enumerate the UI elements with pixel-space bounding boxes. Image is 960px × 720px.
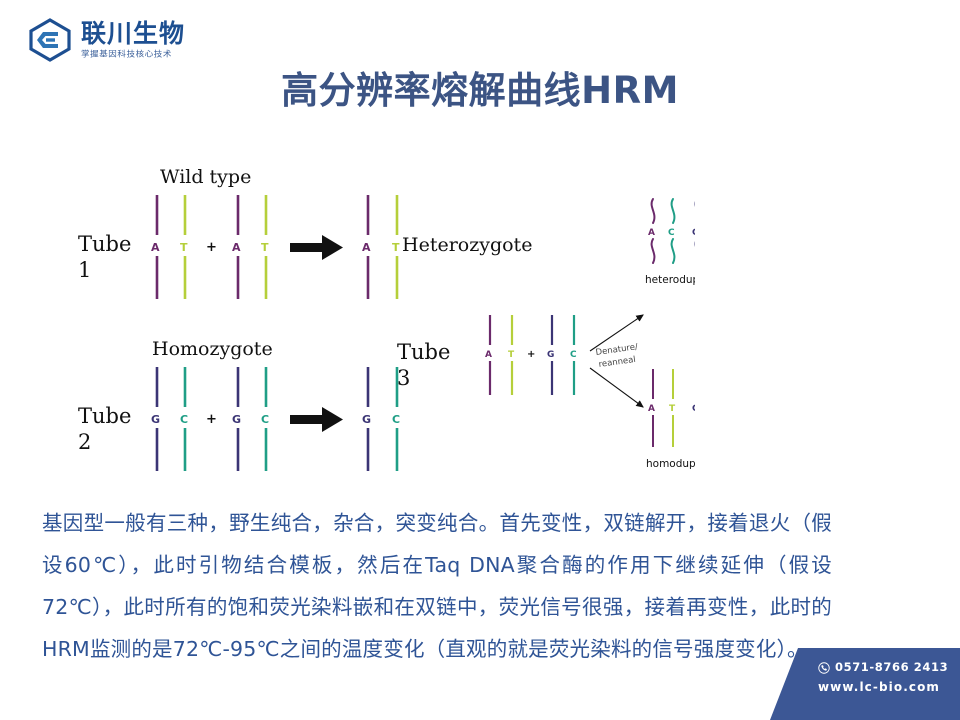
- footer-phone-number: 0571-8766 2413: [835, 661, 948, 675]
- base-label-c: C: [261, 413, 269, 426]
- contact-footer-banner: 0571-8766 2413 www.lc-bio.com: [770, 648, 960, 720]
- tube1-number: 1: [78, 258, 91, 282]
- base-label-t: T: [180, 241, 188, 254]
- heteroduplex-label: heteroduplex: [645, 274, 695, 286]
- reaction-arrow-2: [290, 407, 343, 432]
- brand-name: 联川生物: [81, 21, 185, 46]
- tube3-number: 3: [397, 366, 410, 390]
- base-label-t: T: [261, 241, 269, 254]
- base-label-g: G: [232, 413, 241, 426]
- base-label-c: C: [668, 228, 675, 238]
- base-label-t: T: [669, 404, 676, 414]
- reaction-arrow-1: [290, 235, 343, 260]
- tube3-label: Tube: [397, 340, 450, 364]
- base-label-a: A: [151, 241, 160, 254]
- base-label-g: G: [692, 228, 695, 238]
- base-label-c: C: [392, 413, 400, 426]
- page-title: 高分辨率熔解曲线HRM: [0, 60, 960, 114]
- base-label-a: A: [232, 241, 241, 254]
- plus-sign: +: [206, 412, 217, 427]
- liechuan-hexagon-logo-icon: [28, 18, 72, 62]
- base-label-a: A: [485, 350, 492, 360]
- brand-tagline: 掌握基因科技核心技术: [81, 51, 185, 59]
- denature-label-line2: reanneal: [598, 355, 636, 370]
- base-label-g: G: [692, 404, 695, 414]
- homoduplex-label: homoduplex: [646, 458, 695, 470]
- base-label-g: G: [547, 350, 554, 360]
- base-label-c: C: [180, 413, 188, 426]
- heterozygote-caption: Heterozygote: [402, 234, 532, 256]
- base-label-g: G: [362, 413, 371, 426]
- base-label-t: T: [392, 241, 400, 254]
- denature-arrow-down: [590, 368, 643, 407]
- footer-website-url: www.lc-bio.com: [818, 680, 948, 694]
- base-label-t: T: [508, 350, 515, 360]
- base-label-a: A: [648, 404, 655, 414]
- tube2-label: Tube: [78, 404, 131, 428]
- genotype-figure-svg: Wild type Tube 1 A T + A T A T Homozygot…: [75, 163, 695, 483]
- plus-sign: +: [206, 240, 217, 255]
- body-paragraph: 基因型一般有三种，野生纯合，杂合，突变纯合。首先变性，双链解开，接着退火（假设6…: [42, 502, 832, 670]
- base-label-g: G: [151, 413, 160, 426]
- tube2-number: 2: [78, 430, 91, 454]
- phone-icon: [818, 662, 830, 674]
- wild-type-caption: Wild type: [160, 166, 251, 188]
- plus-sign: +: [527, 349, 535, 360]
- tube1-label: Tube: [78, 232, 131, 256]
- homozygote-caption: Homozygote: [152, 338, 273, 360]
- hrm-genotype-diagram: Wild type Tube 1 A T + A T A T Homozygot…: [75, 163, 695, 483]
- base-label-c: C: [570, 350, 577, 360]
- base-label-a: A: [648, 228, 655, 238]
- base-label-a: A: [362, 241, 371, 254]
- brand-logo: 联川生物 掌握基因科技核心技术: [28, 18, 185, 62]
